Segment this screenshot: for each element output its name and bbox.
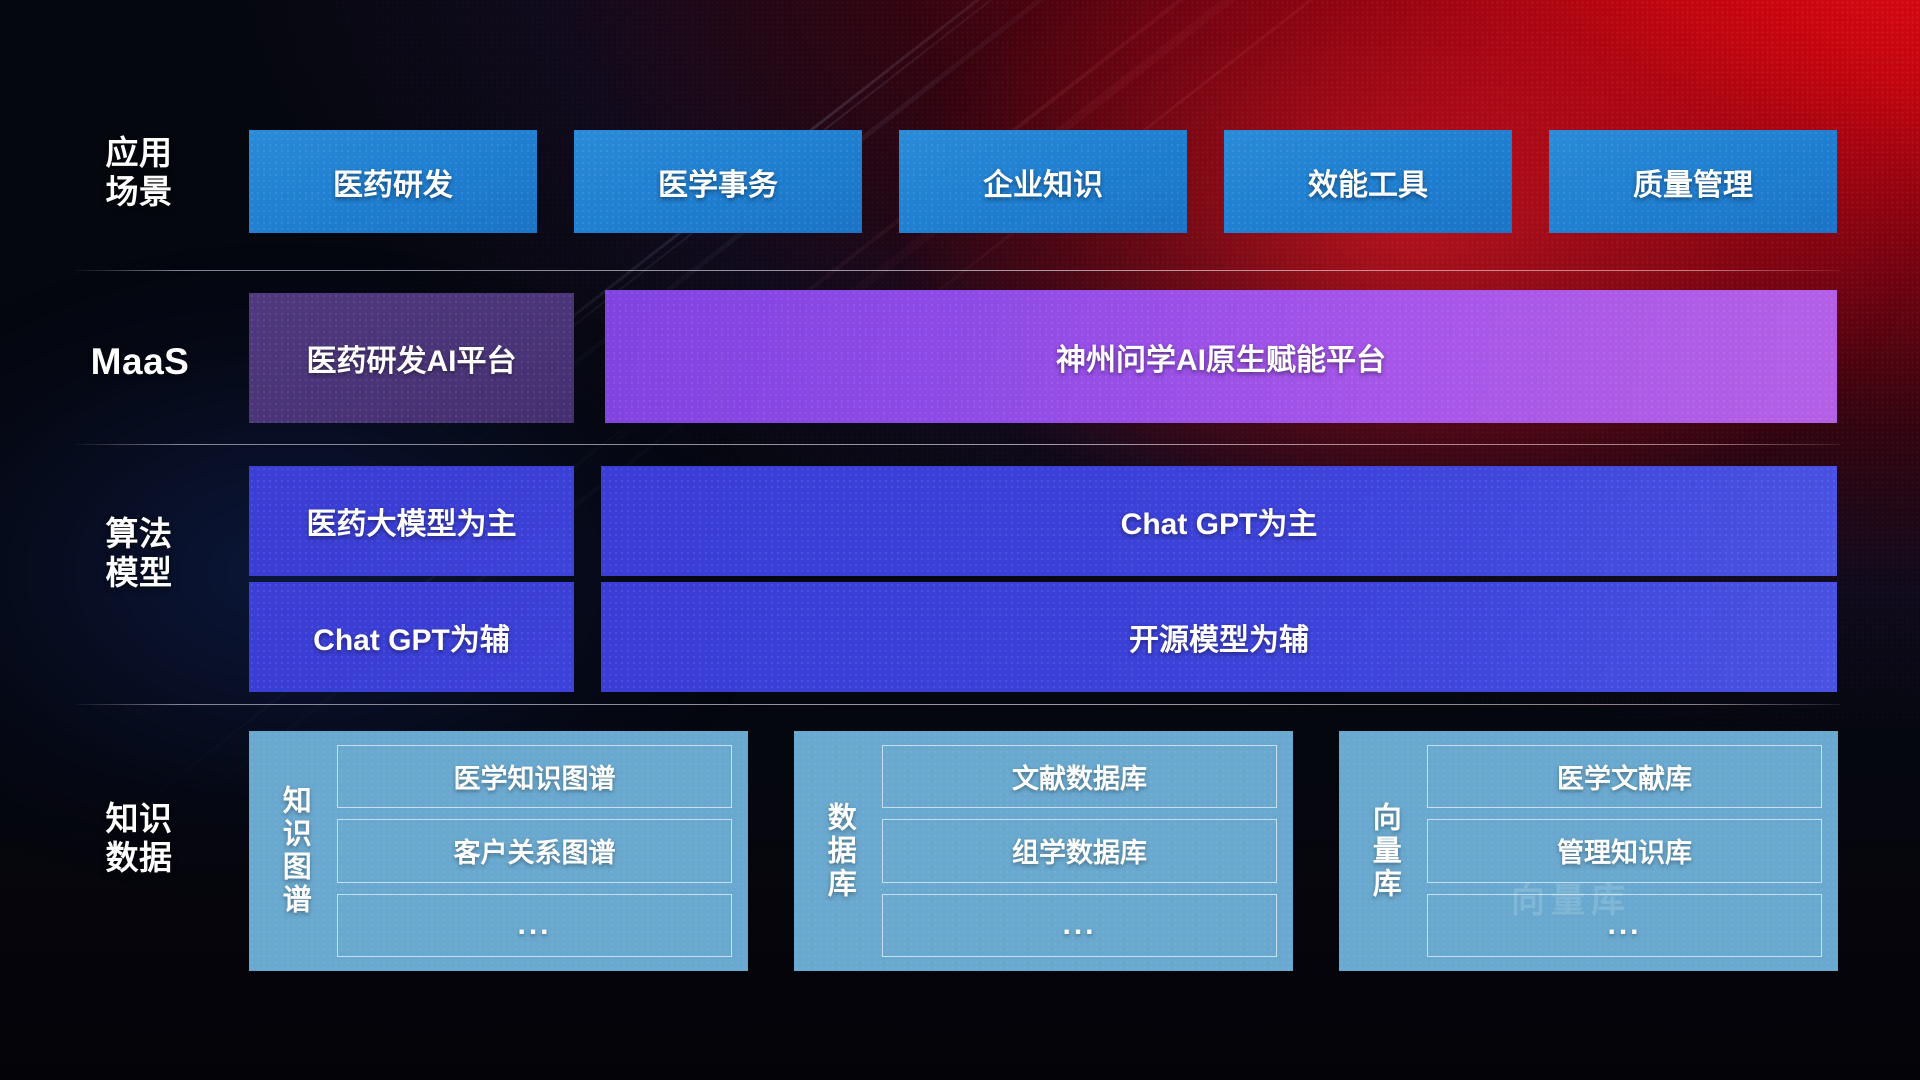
- algo-box-chatgpt-primary[interactable]: Chat GPT为主: [601, 466, 1837, 576]
- layer-label-knowledge-line2: 数据: [78, 839, 200, 878]
- maas-box-medicine-ai-platform[interactable]: 医药研发AI平台: [249, 293, 574, 423]
- app-box-medical-affairs[interactable]: 医学事务: [574, 130, 862, 233]
- layer-label-maas: MaaS: [72, 340, 208, 384]
- maas-box-shenzhou-platform[interactable]: 神州问学AI原生赋能平台: [605, 290, 1837, 423]
- divider-maas-algorithm: [75, 444, 1840, 445]
- algo-box-opensource-secondary[interactable]: 开源模型为辅: [601, 582, 1837, 692]
- knowledge-group-title: 向量库: [1353, 745, 1415, 957]
- algo-box-label: 医药大模型为主: [307, 499, 517, 543]
- app-box-label: 企业知识: [983, 160, 1103, 204]
- divider-application-maas: [75, 270, 1840, 271]
- knowledge-item[interactable]: 管理知识库: [1427, 819, 1822, 882]
- app-box-label: 医学事务: [658, 160, 778, 204]
- app-box-quality-management[interactable]: 质量管理: [1549, 130, 1837, 233]
- layer-label-knowledge: 知识 数据: [78, 800, 200, 878]
- knowledge-item[interactable]: 客户关系图谱: [337, 819, 732, 882]
- layer-label-knowledge-line1: 知识: [78, 800, 200, 839]
- knowledge-group-graph[interactable]: 知识图谱 医学知识图谱 客户关系图谱 ...: [249, 731, 748, 971]
- layer-label-application: 应用 场景: [78, 134, 200, 212]
- app-box-efficiency-tools[interactable]: 效能工具: [1224, 130, 1512, 233]
- knowledge-group-title: 数据库: [808, 745, 870, 957]
- knowledge-item[interactable]: 医学知识图谱: [337, 745, 732, 808]
- knowledge-item-more[interactable]: ...: [882, 894, 1277, 957]
- knowledge-item[interactable]: 医学文献库: [1427, 745, 1822, 808]
- app-box-medicine-rd[interactable]: 医药研发: [249, 130, 537, 233]
- architecture-diagram: 应用 场景 医药研发 医学事务 企业知识 效能工具 质量管理 MaaS 医药研发…: [0, 0, 1920, 1080]
- knowledge-item[interactable]: 文献数据库: [882, 745, 1277, 808]
- algo-box-chatgpt-secondary[interactable]: Chat GPT为辅: [249, 582, 574, 692]
- knowledge-group-database[interactable]: 数据库 文献数据库 组学数据库 ...: [794, 731, 1293, 971]
- layer-label-algorithm: 算法 模型: [78, 515, 200, 593]
- algo-box-medicine-model-primary[interactable]: 医药大模型为主: [249, 466, 574, 576]
- layer-label-application-line1: 应用: [78, 134, 200, 173]
- app-box-label: 医药研发: [333, 160, 453, 204]
- app-box-enterprise-knowledge[interactable]: 企业知识: [899, 130, 1187, 233]
- app-box-label: 效能工具: [1308, 160, 1428, 204]
- knowledge-group-vector[interactable]: 向量库 向量库 医学文献库 管理知识库 ...: [1339, 731, 1838, 971]
- algo-box-label: Chat GPT为主: [1121, 499, 1318, 543]
- knowledge-item-list: 医学文献库 管理知识库 ...: [1427, 745, 1822, 957]
- layer-label-algorithm-line2: 模型: [78, 554, 200, 593]
- knowledge-item[interactable]: 组学数据库: [882, 819, 1277, 882]
- algo-box-label: Chat GPT为辅: [313, 615, 510, 659]
- maas-box-label: 医药研发AI平台: [307, 336, 517, 380]
- layer-label-maas-text: MaaS: [72, 340, 208, 384]
- layer-label-application-line2: 场景: [78, 173, 200, 212]
- app-box-label: 质量管理: [1633, 160, 1753, 204]
- knowledge-group-title: 知识图谱: [263, 745, 325, 957]
- algo-box-label: 开源模型为辅: [1129, 615, 1309, 659]
- knowledge-item-more[interactable]: ...: [337, 894, 732, 957]
- divider-algorithm-knowledge: [75, 704, 1840, 705]
- layer-label-algorithm-line1: 算法: [78, 515, 200, 554]
- knowledge-item-list: 文献数据库 组学数据库 ...: [882, 745, 1277, 957]
- maas-box-label: 神州问学AI原生赋能平台: [1056, 335, 1386, 379]
- knowledge-item-more[interactable]: ...: [1427, 894, 1822, 957]
- knowledge-item-list: 医学知识图谱 客户关系图谱 ...: [337, 745, 732, 957]
